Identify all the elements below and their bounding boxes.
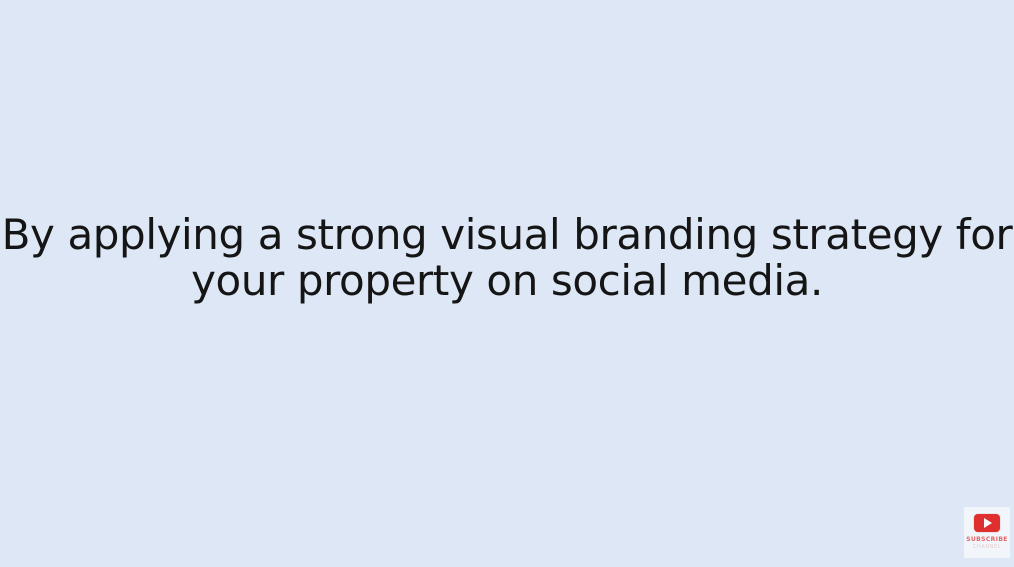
presentation-slide: By applying a strong visual branding str… bbox=[0, 0, 1014, 567]
play-triangle-icon bbox=[984, 518, 992, 528]
caption-block: By applying a strong visual branding str… bbox=[0, 0, 1014, 567]
youtube-subscribe-watermark[interactable]: SUBSCRIBE CHANNEL bbox=[964, 507, 1010, 558]
caption-line-1: By applying a strong visual branding str… bbox=[2, 212, 1013, 258]
subscribe-sublabel: CHANNEL bbox=[973, 544, 1001, 550]
subscribe-label: SUBSCRIBE bbox=[966, 536, 1008, 543]
youtube-play-icon[interactable] bbox=[974, 514, 1000, 532]
caption-line-2: your property on social media. bbox=[191, 258, 823, 304]
